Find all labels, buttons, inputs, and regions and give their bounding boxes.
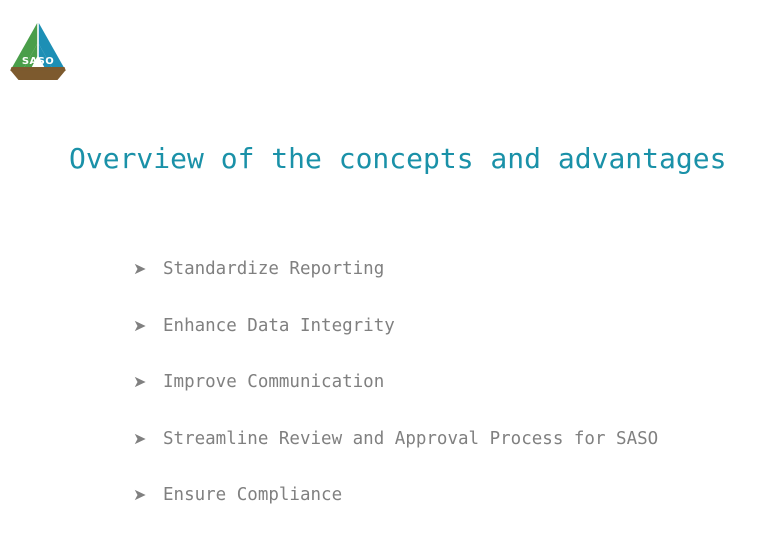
arrow-bullet-icon: ➤ (133, 484, 163, 506)
saso-logo-icon (7, 21, 69, 81)
list-item-label: Improve Communication (163, 371, 384, 393)
list-item-label: Streamline Review and Approval Process f… (163, 428, 658, 450)
arrow-bullet-icon: ➤ (133, 315, 163, 337)
page-title: Overview of the concepts and advantages (69, 140, 726, 178)
list-item: ➤ Standardize Reporting (133, 258, 773, 315)
list-item: ➤ Streamline Review and Approval Process… (133, 428, 773, 485)
arrow-bullet-icon: ➤ (133, 371, 163, 393)
saso-logo: SASO (7, 21, 69, 81)
bullet-list: ➤ Standardize Reporting ➤ Enhance Data I… (133, 258, 773, 541)
list-item-label: Standardize Reporting (163, 258, 384, 280)
list-item-label: Ensure Compliance (163, 484, 342, 506)
presentation-slide: SASO Overview of the concepts and advant… (0, 0, 781, 530)
list-item-label: Enhance Data Integrity (163, 315, 395, 337)
list-item: ➤ Enhance Data Integrity (133, 315, 773, 372)
arrow-bullet-icon: ➤ (133, 258, 163, 280)
arrow-bullet-icon: ➤ (133, 428, 163, 450)
list-item: ➤ Ensure Compliance (133, 484, 773, 541)
list-item: ➤ Improve Communication (133, 371, 773, 428)
